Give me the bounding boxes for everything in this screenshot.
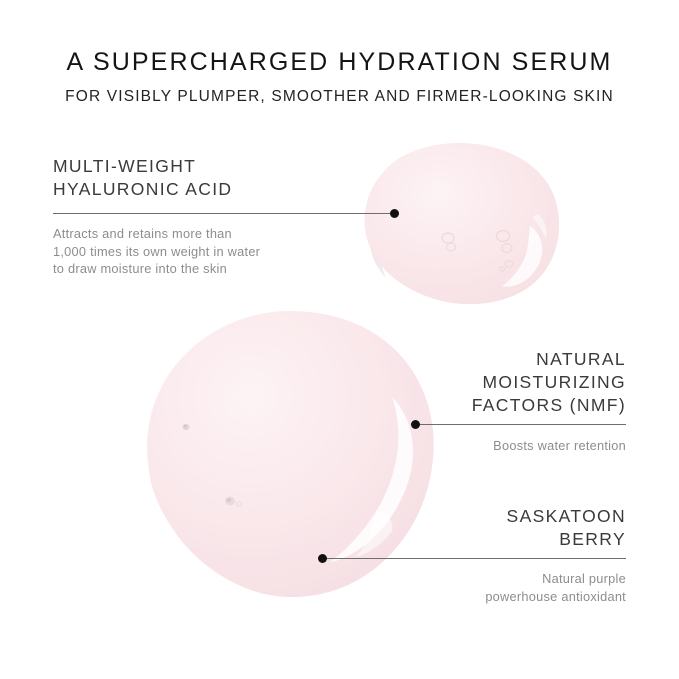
upper-serum-droplet xyxy=(352,138,567,308)
callout-title: NATURAL MOISTURIZING FACTORS (NMF) xyxy=(326,348,626,417)
infographic-root: A SUPERCHARGED HYDRATION SERUM FOR VISIB… xyxy=(0,0,679,679)
desc-line3: to draw moisture into the skin xyxy=(53,261,227,276)
callout-description: Boosts water retention xyxy=(326,437,626,455)
callout-title-line3: FACTORS (NMF) xyxy=(472,395,626,415)
desc-line1: Natural purple xyxy=(542,571,626,586)
connector-line-hyaluronic xyxy=(53,213,393,214)
callout-desc-nmf: Boosts water retention xyxy=(326,437,626,455)
callout-title-line2: HYALURONIC ACID xyxy=(53,179,232,199)
page-title: A SUPERCHARGED HYDRATION SERUM xyxy=(0,48,679,77)
desc-line1: Attracts and retains more than xyxy=(53,226,232,241)
connector-dot-hyaluronic xyxy=(390,209,399,218)
callout-desc-saskatoon: Natural purple powerhouse antioxidant xyxy=(326,570,626,605)
desc-line2: powerhouse antioxidant xyxy=(485,589,626,604)
callout-multi-weight-hyaluronic-acid: MULTI-WEIGHT HYALURONIC ACID xyxy=(53,155,353,201)
connector-dot-nmf xyxy=(411,420,420,429)
callout-title-line1: SASKATOON xyxy=(507,506,626,526)
callout-title: SASKATOON BERRY xyxy=(326,505,626,551)
callout-title-line1: MULTI-WEIGHT xyxy=(53,156,196,176)
callout-title-line2: BERRY xyxy=(559,529,626,549)
callout-desc-hyaluronic: Attracts and retains more than 1,000 tim… xyxy=(53,225,353,278)
callout-description: Attracts and retains more than 1,000 tim… xyxy=(53,225,353,278)
page-subtitle: FOR VISIBLY PLUMPER, SMOOTHER AND FIRMER… xyxy=(0,88,679,106)
callout-natural-moisturizing-factors: NATURAL MOISTURIZING FACTORS (NMF) xyxy=(326,348,626,417)
desc-line2: 1,000 times its own weight in water xyxy=(53,244,260,259)
callout-description: Natural purple powerhouse antioxidant xyxy=(326,570,626,605)
callout-title: MULTI-WEIGHT HYALURONIC ACID xyxy=(53,155,353,201)
connector-line-nmf xyxy=(419,424,626,425)
callout-title-line2: MOISTURIZING xyxy=(482,372,626,392)
connector-line-saskatoon xyxy=(326,558,626,559)
upper-droplet-body xyxy=(365,143,560,304)
connector-dot-saskatoon xyxy=(318,554,327,563)
callout-title-line1: NATURAL xyxy=(536,349,626,369)
desc-line1: Boosts water retention xyxy=(493,438,626,453)
callout-saskatoon-berry: SASKATOON BERRY xyxy=(326,505,626,551)
